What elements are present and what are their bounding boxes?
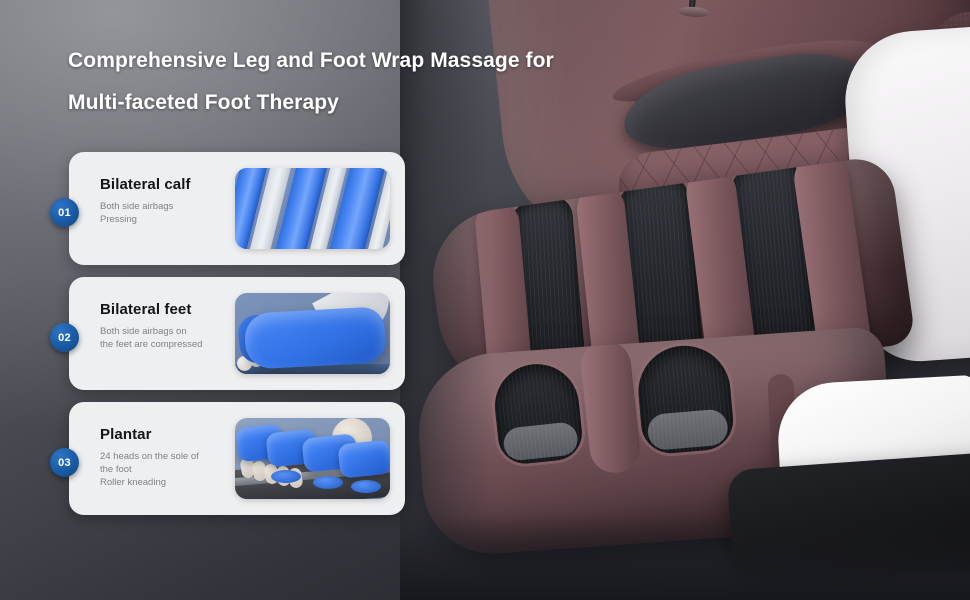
feature-card-text: Bilateral calf Both side airbags Pressin… — [100, 176, 225, 226]
massage-head — [337, 439, 390, 478]
feature-card-plantar[interactable]: 03 Plantar 24 heads on the sole of the f… — [69, 402, 405, 515]
feature-number-badge: 03 — [50, 448, 79, 477]
calf-airbags-thumbnail — [235, 168, 390, 249]
feet-airbags-thumbnail — [235, 293, 390, 374]
feature-description-line: Both side airbags on — [100, 325, 225, 338]
feature-card-text: Plantar 24 heads on the sole of the foot… — [100, 426, 225, 489]
foot-well — [491, 360, 585, 466]
feature-number-badge: 01 — [50, 198, 79, 227]
feature-description-line: the feet are compressed — [100, 338, 225, 351]
headline: Comprehensive Leg and Foot Wrap Massage … — [68, 40, 668, 124]
feature-description-line: 24 heads on the sole of — [100, 450, 225, 463]
feature-title: Bilateral calf — [100, 176, 225, 193]
feature-description: Both side airbags on the feet are compre… — [100, 325, 225, 351]
feature-description-line: the foot — [100, 463, 225, 476]
headline-line-1: Comprehensive Leg and Foot Wrap Massage … — [68, 49, 554, 72]
product-feature-poster: Comprehensive Leg and Foot Wrap Massage … — [0, 0, 970, 600]
feature-description: 24 heads on the sole of the foot Roller … — [100, 450, 225, 489]
foot-well-sole-plate — [646, 408, 730, 451]
feature-card-text: Bilateral feet Both side airbags on the … — [100, 301, 225, 351]
feature-title: Plantar — [100, 426, 225, 443]
foot-airbag-pillow — [244, 306, 387, 369]
roller-disc — [271, 470, 301, 483]
feature-description-line: Pressing — [100, 213, 225, 226]
roller-disc — [351, 480, 381, 493]
feature-title: Bilateral feet — [100, 301, 225, 318]
foot-well-sole-plate — [502, 421, 579, 462]
feature-description: Both side airbags Pressing — [100, 200, 225, 226]
headline-line-2: Multi-faceted Foot Therapy — [68, 82, 668, 124]
feature-number-badge: 02 — [50, 323, 79, 352]
plantar-rollers-thumbnail — [235, 418, 390, 499]
feature-card-bilateral-calf[interactable]: 01 Bilateral calf Both side airbags Pres… — [69, 152, 405, 265]
foot-well — [635, 342, 736, 456]
chair-base — [727, 450, 970, 581]
feature-description-line: Both side airbags — [100, 200, 225, 213]
feature-description-line: Roller kneading — [100, 476, 225, 489]
feature-card-bilateral-feet[interactable]: 02 Bilateral feet Both side airbags on t… — [69, 277, 405, 390]
roller-disc — [313, 476, 343, 489]
